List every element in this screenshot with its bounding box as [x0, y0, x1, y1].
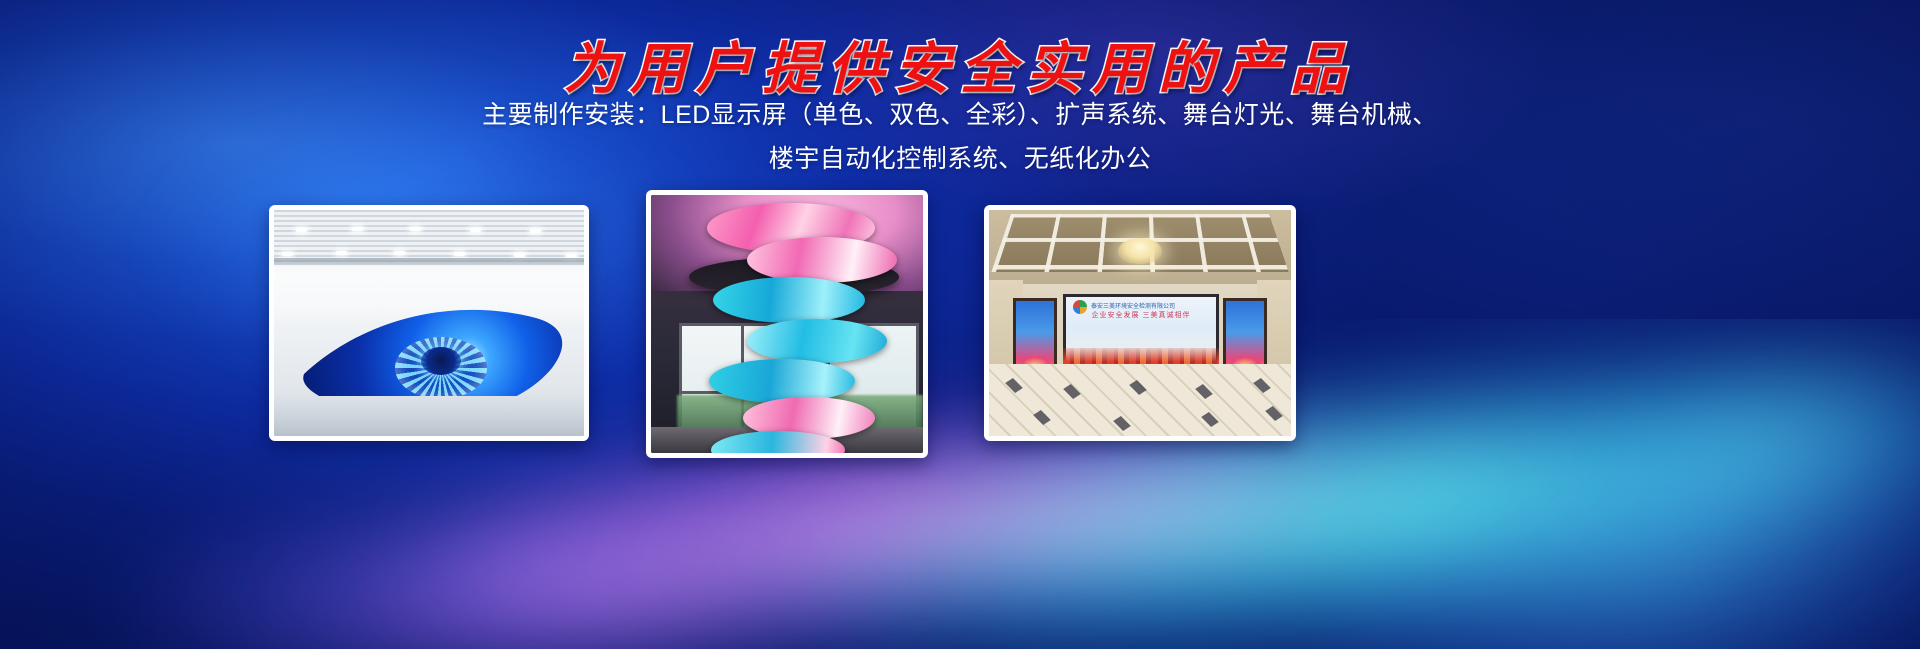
- subtitle-line-1: 主要制作安装：LED显示屏（单色、双色、全彩）、扩声系统、舞台灯光、舞台机械、: [0, 103, 1920, 128]
- banner-content: 为用户提供安全实用的产品 主要制作安装：LED显示屏（单色、双色、全彩）、扩声系…: [0, 0, 1920, 649]
- promo-banner: 为用户提供安全实用的产品 主要制作安装：LED显示屏（单色、双色、全彩）、扩声系…: [0, 0, 1920, 649]
- subtitle-line-2: 楼宇自动化控制系统、无纸化办公: [0, 147, 1920, 172]
- headline-slogan: 为用户提供安全实用的产品: [0, 24, 1920, 105]
